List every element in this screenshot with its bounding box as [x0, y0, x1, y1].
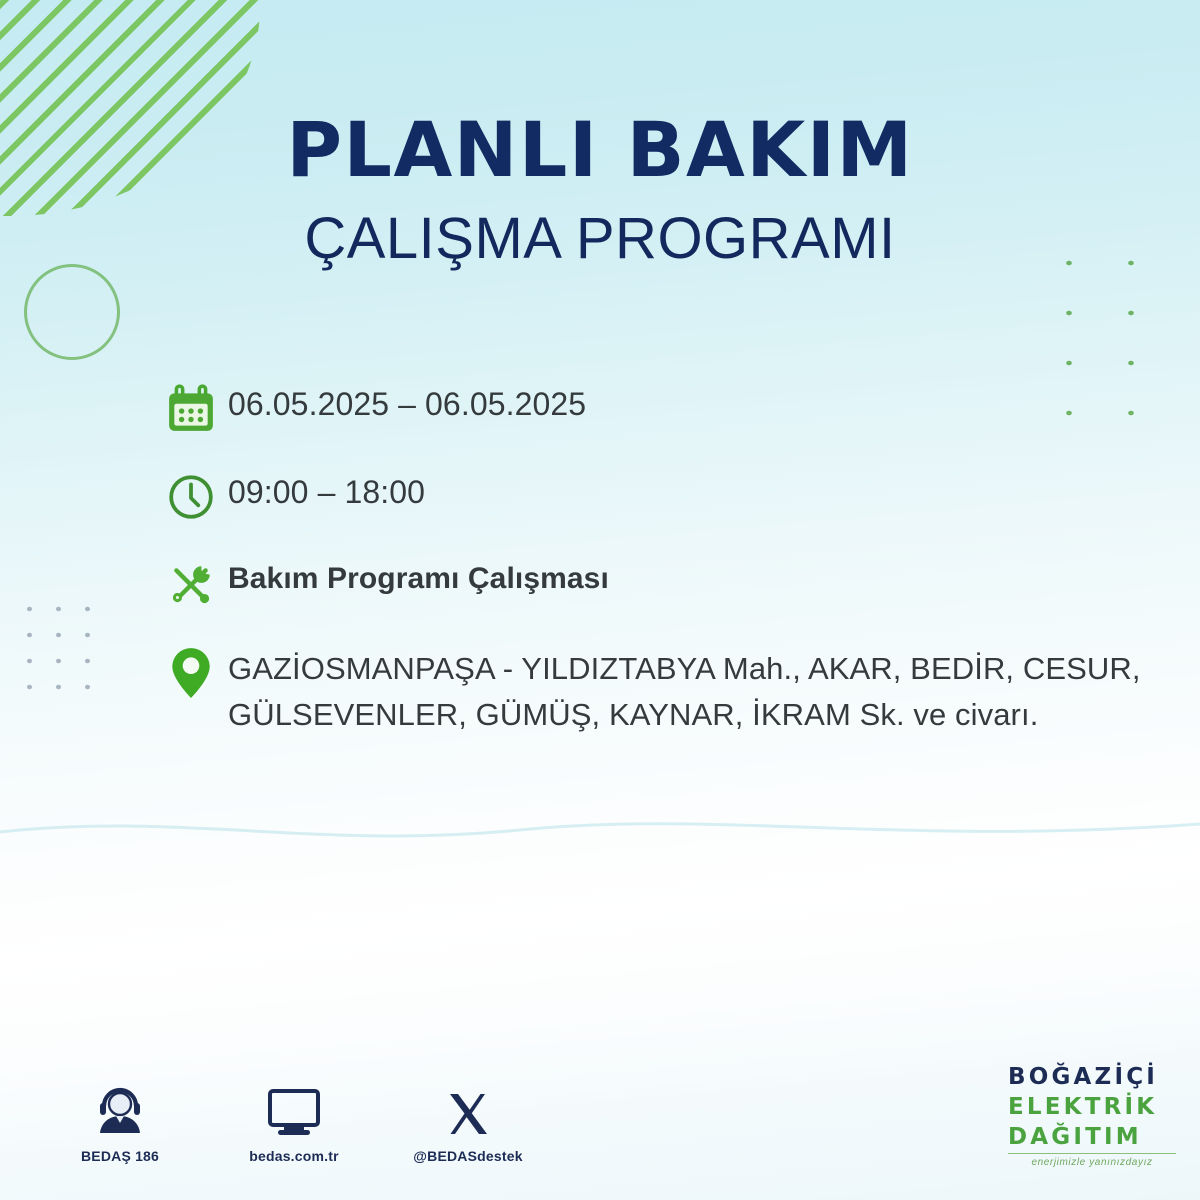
- calendar-icon: [166, 378, 228, 440]
- x-twitter-icon: [406, 1082, 530, 1138]
- time-range-value: 09:00 – 18:00: [228, 466, 425, 515]
- page-subtitle: ÇALIŞMA PROGRAMI: [0, 210, 1200, 268]
- clock-icon: [166, 466, 228, 528]
- tools-icon: [166, 554, 228, 616]
- wave-line-decoration: [0, 806, 1200, 866]
- date-range-value: 06.05.2025 – 06.05.2025: [228, 378, 586, 427]
- monitor-icon: [232, 1082, 356, 1138]
- page-title: PLANLI BAKIM: [0, 112, 1200, 188]
- contact-website-label: bedas.com.tr: [232, 1148, 356, 1164]
- contact-phone[interactable]: BEDAŞ 186: [58, 1082, 182, 1164]
- planned-maintenance-poster: PLANLI BAKIM ÇALIŞMA PROGRAMI 06.05.2025…: [0, 0, 1200, 1200]
- circle-outline-decoration: [24, 264, 120, 360]
- maintenance-details: 06.05.2025 – 06.05.2025 09:00 – 18:00: [166, 378, 1176, 738]
- support-headset-icon: [58, 1082, 182, 1138]
- brand-line-bogazici: BOĞAZİÇİ: [1008, 1066, 1176, 1089]
- detail-row-location: GAZİOSMANPAŞA - YILDIZTABYA Mah., AKAR, …: [166, 642, 1176, 738]
- contact-x-label: @BEDASdestek: [406, 1148, 530, 1164]
- brand-logo: BOĞAZİÇİ ELEKTRİK DAĞITIM enerjimizle ya…: [1008, 1066, 1176, 1168]
- affected-area-value: GAZİOSMANPAŞA - YILDIZTABYA Mah., AKAR, …: [228, 642, 1158, 738]
- work-type-value: Bakım Programı Çalışması: [228, 554, 609, 601]
- brand-tagline: enerjimizle yanınızdayız: [1008, 1153, 1176, 1168]
- location-pin-icon: [166, 642, 228, 704]
- brand-line-dagitim: DAĞITIM: [1008, 1126, 1176, 1149]
- detail-row-date: 06.05.2025 – 06.05.2025: [166, 378, 1176, 440]
- brand-line-elektrik: ELEKTRİK: [1008, 1096, 1176, 1119]
- detail-row-work-type: Bakım Programı Çalışması: [166, 554, 1176, 616]
- contact-website[interactable]: bedas.com.tr: [232, 1082, 356, 1164]
- contact-x-social[interactable]: @BEDASdestek: [406, 1082, 530, 1164]
- contact-phone-label: BEDAŞ 186: [58, 1148, 182, 1164]
- poster-header: PLANLI BAKIM ÇALIŞMA PROGRAMI: [0, 112, 1200, 268]
- dot-grid-left-decoration: [12, 592, 110, 704]
- detail-row-time: 09:00 – 18:00: [166, 466, 1176, 528]
- footer-contacts: BEDAŞ 186 bedas.com.tr @BEDASdestek: [58, 1082, 530, 1164]
